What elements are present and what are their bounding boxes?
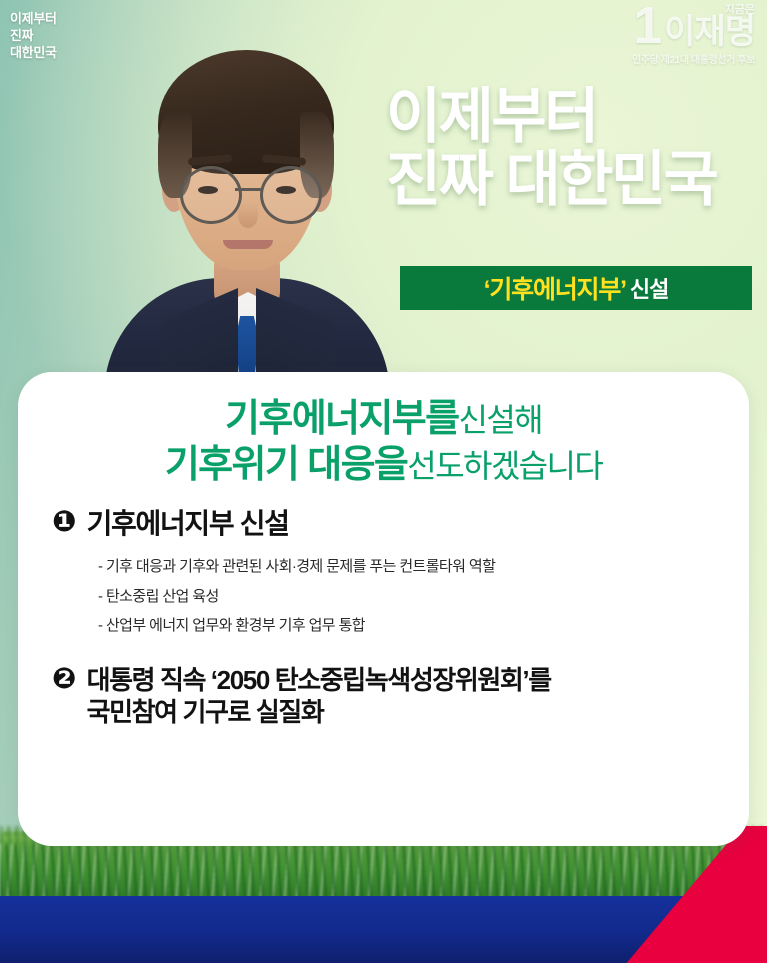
- candidate-number-mark: 1 지금은 이재명 민주당 제21대 대통령선거 후보: [632, 4, 755, 66]
- pledge-item-2-number-icon: ❷: [52, 664, 77, 696]
- pledge-headline-line1-strong: 기후에너지부를: [225, 398, 459, 440]
- eyeglasses-bridge-icon: [235, 188, 261, 191]
- hero-headline: 이제부터 진짜 대한민국: [386, 86, 758, 210]
- pledge-bullet: - 탄소중립 산업 육성: [98, 582, 715, 611]
- portrait-nose: [238, 202, 258, 228]
- pledge-item-2: ❷ 대통령 직속 ‘2050 탄소중립녹색성장위원회’를 국민참여 기구로 실질…: [52, 664, 715, 728]
- top-left-slogan-line1: 이제부터: [10, 10, 57, 27]
- pledge-headline-line1-light: 신설해: [459, 402, 543, 438]
- department-banner-name: ‘기후에너지부’: [484, 270, 626, 306]
- pledge-bullet: - 기후 대응과 기후와 관련된 사회·경제 문제를 푸는 컨트롤타워 역할: [98, 552, 715, 581]
- hero-headline-line1: 이제부터: [386, 86, 758, 147]
- candidate-number-row: 1 지금은 이재명: [632, 4, 755, 49]
- pledge-item-1: ❶ 기후에너지부 신설: [52, 507, 715, 541]
- pledge-card-headline: 기후에너지부를신설해 기후위기 대응을선도하겠습니다: [18, 372, 749, 489]
- top-left-slogan-line3: 대한민국: [10, 44, 57, 61]
- candidate-name: 이재명: [664, 17, 755, 48]
- pledge-item-1-number-icon: ❶: [52, 507, 77, 539]
- portrait-mouth: [223, 240, 273, 249]
- eyeglasses-lens-right-icon: [260, 166, 322, 224]
- campaign-poster: 이제부터 진짜 대한민국 1 지금은 이재명 민주당 제21대 대통령선거 후보…: [0, 0, 767, 963]
- pledge-item-1-bullets: - 기후 대응과 기후와 관련된 사회·경제 문제를 푸는 컨트롤타워 역할 -…: [98, 552, 715, 640]
- department-banner-action: 신설: [630, 272, 668, 304]
- pledge-card: 기후에너지부를신설해 기후위기 대응을선도하겠습니다 ❶ 기후에너지부 신설 -…: [18, 372, 749, 846]
- candidate-subline: 민주당 제21대 대통령선거 후보: [632, 51, 755, 66]
- candidate-name-block: 지금은 이재명: [664, 5, 755, 48]
- candidate-number: 1: [633, 4, 660, 49]
- pledge-item-2-title-line1: 대통령 직속 ‘2050 탄소중립녹색성장위원회’를: [87, 664, 551, 696]
- pledge-headline-line2: 기후위기 대응을선도하겠습니다: [18, 442, 749, 488]
- top-left-slogan-line2: 진짜: [10, 27, 57, 44]
- candidate-portrait: [96, 16, 396, 398]
- department-banner: ‘기후에너지부’ 신설: [400, 266, 752, 310]
- pledge-headline-line2-light: 선도하겠습니다: [407, 448, 602, 484]
- hero-headline-line2: 진짜 대한민국: [386, 149, 758, 210]
- pledge-headline-line2-strong: 기후위기 대응을: [165, 444, 407, 486]
- pledge-item-2-title-block: 대통령 직속 ‘2050 탄소중립녹색성장위원회’를 국민참여 기구로 실질화: [87, 664, 551, 728]
- eyeglasses-lens-left-icon: [180, 166, 242, 224]
- pledge-bullet: - 산업부 에너지 업무와 환경부 기후 업무 통합: [98, 611, 715, 640]
- top-left-slogan: 이제부터 진짜 대한민국: [10, 10, 57, 61]
- pledge-item-1-title: 기후에너지부 신설: [87, 507, 289, 541]
- pledge-item-list: ❶ 기후에너지부 신설 - 기후 대응과 기후와 관련된 사회·경제 문제를 푸…: [18, 489, 749, 729]
- pledge-headline-line1: 기후에너지부를신설해: [18, 396, 749, 442]
- pledge-item-2-title-line2: 국민참여 기구로 실질화: [87, 696, 551, 728]
